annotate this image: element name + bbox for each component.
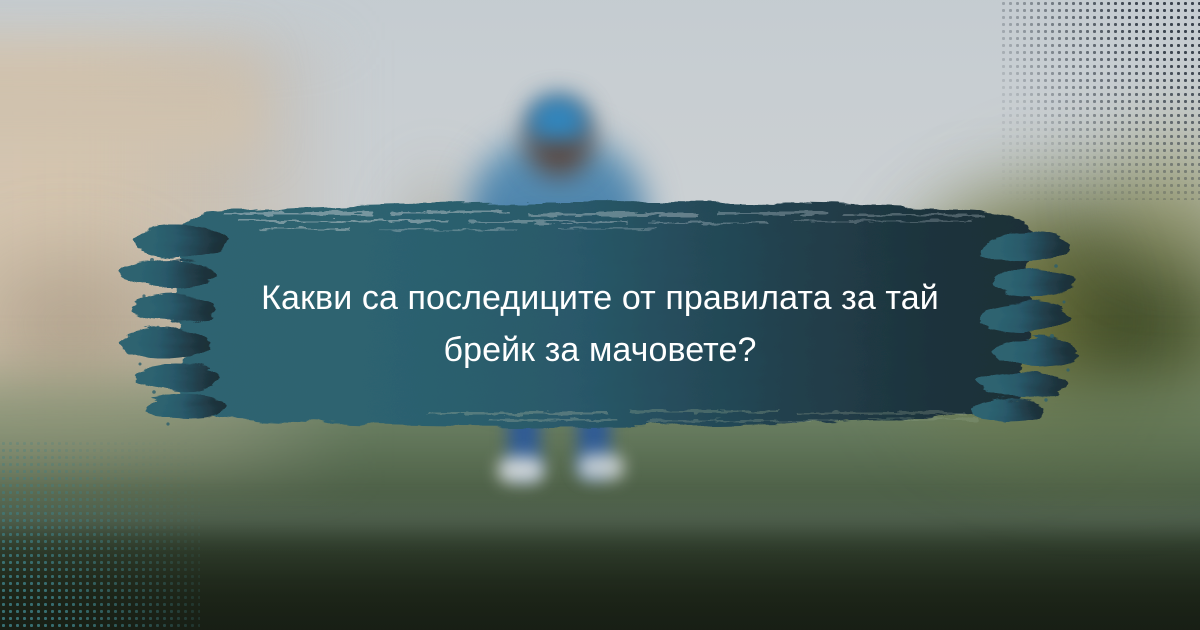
bottom-vignette — [0, 500, 1200, 630]
blurred-person-shoe-left — [498, 457, 544, 483]
blurred-person-cap — [526, 93, 590, 141]
social-share-card: Какви са последиците от правилата за тай… — [0, 0, 1200, 630]
blurred-person-shoe-right — [578, 454, 624, 480]
blurred-trees-highlight — [1080, 80, 1200, 280]
headline-text: Какви са последиците от правилата за тай… — [150, 272, 1050, 376]
blurred-building-top — [0, 30, 260, 150]
